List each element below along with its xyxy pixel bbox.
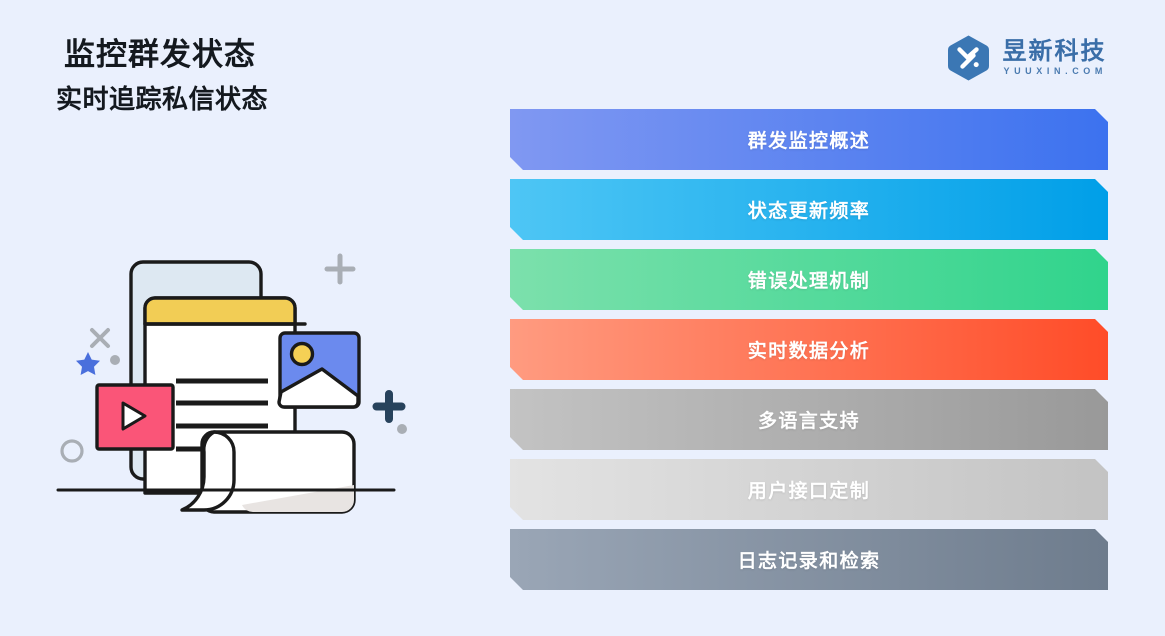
bar-shishi-shuju-fenxi[interactable]: 实时数据分析 — [510, 319, 1108, 380]
bar-label: 群发监控概述 — [748, 126, 870, 153]
dot-right — [397, 424, 407, 434]
image-thumbnail — [279, 333, 359, 407]
bar-label: 实时数据分析 — [748, 336, 870, 363]
bar-label: 错误处理机制 — [748, 266, 870, 293]
document-media-illustration — [44, 240, 436, 530]
logo-brand-cn: 昱新科技 — [1002, 39, 1107, 64]
bar-label: 用户接口定制 — [748, 476, 870, 503]
bar-qunfa-jiankong-gaishu[interactable]: 群发监控概述 — [510, 109, 1108, 170]
plus-bold — [377, 394, 402, 419]
bar-label: 日志记录和检索 — [738, 546, 881, 573]
bar-label: 多语言支持 — [758, 406, 860, 433]
bar-rizhi-jilu-he-jiansuo[interactable]: 日志记录和检索 — [510, 529, 1108, 590]
page-subtitle: 实时追踪私信状态 — [56, 83, 576, 116]
sun-circle — [292, 344, 313, 365]
feature-bars-list: 群发监控概述 状态更新频率 错误处理机制 实时数据分析 多语言支持 用户接口定制… — [510, 109, 1108, 590]
dot-small — [110, 355, 120, 365]
bar-yonghu-jiekou-dingzhi[interactable]: 用户接口定制 — [510, 459, 1108, 520]
curled-paper — [182, 432, 354, 512]
star-mark — [76, 352, 100, 375]
yellow-header-band — [145, 298, 295, 324]
yuuxin-hexagon-logo-icon — [946, 34, 991, 82]
bar-cuowu-chuli-jizhi[interactable]: 错误处理机制 — [510, 249, 1108, 310]
circle-outline — [62, 441, 82, 461]
bar-zhuangtai-gengxin-pinlv[interactable]: 状态更新频率 — [510, 179, 1108, 240]
bar-label: 状态更新频率 — [748, 196, 870, 223]
plus-thin — [327, 256, 353, 282]
video-play-card — [97, 385, 173, 449]
bar-duoyuyan-zhichi[interactable]: 多语言支持 — [510, 389, 1108, 450]
logo-text-block: 昱新科技 YUUXIN.COM — [1002, 37, 1107, 79]
page-title: 监控群发状态 — [64, 36, 576, 75]
brand-logo[interactable]: 昱新科技 YUUXIN.COM — [946, 34, 1107, 82]
logo-brand-en: YUUXIN.COM — [1002, 64, 1107, 78]
cross-mark — [92, 330, 108, 346]
page-headings: 监控群发状态 实时追踪私信状态 — [56, 36, 576, 115]
